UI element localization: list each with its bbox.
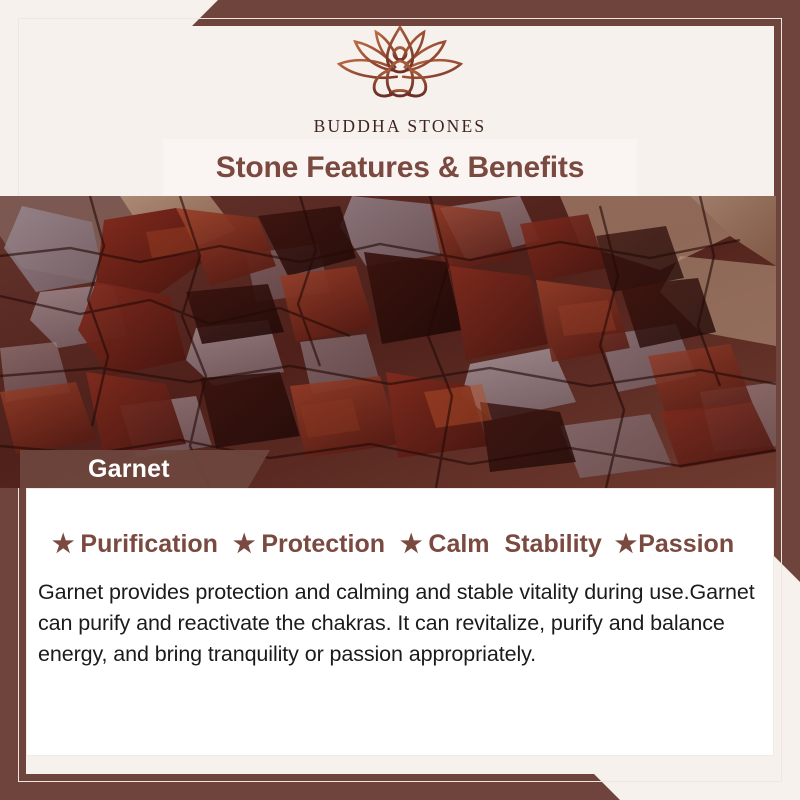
lotus-meditation-icon — [320, 24, 480, 110]
feature-item-passion: ★Passion — [615, 530, 734, 559]
feature-label: Calm — [428, 530, 489, 559]
feature-list: ★Purification★Protection★Calm★Stability★… — [52, 530, 752, 559]
feature-label: Passion — [638, 530, 734, 559]
page-title: Stone Features & Benefits — [216, 151, 584, 185]
feature-label: Purification — [80, 530, 218, 559]
stone-description: Garnet provides protection and calming a… — [38, 577, 760, 670]
stone-name-label: Garnet — [88, 455, 170, 484]
feature-item-stability: ★Stability — [505, 530, 602, 559]
stone-name-tag: Garnet — [20, 450, 270, 488]
feature-label: Stability — [505, 530, 602, 559]
brand-name: BUDDHA STONES — [314, 116, 487, 137]
star-icon: ★ — [52, 532, 74, 557]
stone-photo — [0, 196, 776, 488]
poster-root: BUDDHA STONES — [0, 0, 800, 800]
star-icon: ★ — [400, 532, 422, 557]
star-icon: ★ — [615, 532, 637, 557]
title-banner: Stone Features & Benefits — [163, 139, 637, 196]
frame-bottom-bar — [0, 774, 620, 800]
feature-item-purification: ★Purification — [52, 530, 218, 559]
feature-item-protection: ★Protection — [233, 530, 385, 559]
feature-label: Protection — [261, 530, 385, 559]
star-icon: ★ — [233, 532, 255, 557]
feature-item-calm: ★Calm — [400, 530, 490, 559]
